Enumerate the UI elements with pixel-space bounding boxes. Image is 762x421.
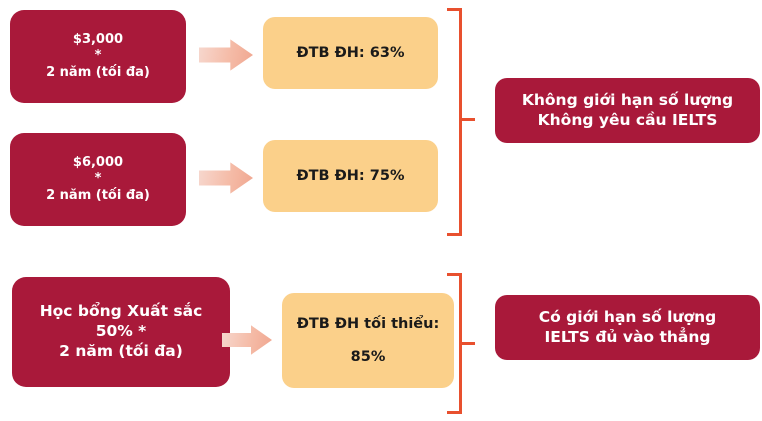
note-line-1: Không giới hạn số lượng: [522, 91, 733, 111]
brace-group-no-limit: [447, 8, 477, 236]
award-amount: $6,000: [73, 155, 123, 172]
brace-tick-middle: [459, 118, 475, 121]
brace-tick-top: [447, 273, 462, 276]
brace-tick-bottom: [447, 411, 462, 414]
note-line-1: Có giới hạn số lượng: [539, 308, 717, 328]
award-box-6000: $6,000 * 2 năm (tối đa): [10, 133, 186, 226]
requirement-gpa: ĐTB ĐH: 63%: [297, 44, 405, 63]
award-percent: 50% *: [96, 322, 147, 342]
award-box-3000: $3,000 * 2 năm (tối đa): [10, 10, 186, 103]
award-box-excellence: Học bổng Xuất sắc 50% * 2 năm (tối đa): [12, 277, 230, 387]
right-arrow-icon: [199, 38, 253, 72]
note-line-2: IELTS đủ vào thẳng: [545, 328, 711, 348]
requirement-gpa: ĐTB ĐH: 75%: [297, 167, 405, 186]
award-asterisk: *: [95, 171, 102, 188]
brace-tick-top: [447, 8, 462, 11]
award-duration: 2 năm (tối đa): [59, 342, 183, 362]
note-box-limited: Có giới hạn số lượng IELTS đủ vào thẳng: [495, 295, 760, 360]
award-amount: $3,000: [73, 32, 123, 49]
requirement-box-63: ĐTB ĐH: 63%: [263, 17, 438, 89]
award-asterisk: *: [95, 48, 102, 65]
brace-stem: [459, 8, 462, 236]
note-line-2: Không yêu cầu IELTS: [538, 111, 718, 131]
award-duration: 2 năm (tối đa): [46, 188, 150, 205]
requirement-label: ĐTB ĐH tối thiểu:: [297, 315, 440, 334]
award-duration: 2 năm (tối đa): [46, 65, 150, 82]
right-arrow-icon: [199, 161, 253, 195]
note-box-no-limit: Không giới hạn số lượng Không yêu cầu IE…: [495, 78, 760, 143]
requirement-value: 85%: [351, 348, 386, 367]
requirement-box-75: ĐTB ĐH: 75%: [263, 140, 438, 212]
award-title: Học bổng Xuất sắc: [40, 302, 203, 322]
diagram-canvas: $3,000 * 2 năm (tối đa) ĐTB ĐH: 63% $6,0…: [0, 0, 762, 421]
brace-tick-middle: [459, 342, 475, 345]
brace-tick-bottom: [447, 233, 462, 236]
requirement-box-85: ĐTB ĐH tối thiểu: 85%: [282, 293, 454, 388]
brace-group-limited: [447, 273, 477, 414]
